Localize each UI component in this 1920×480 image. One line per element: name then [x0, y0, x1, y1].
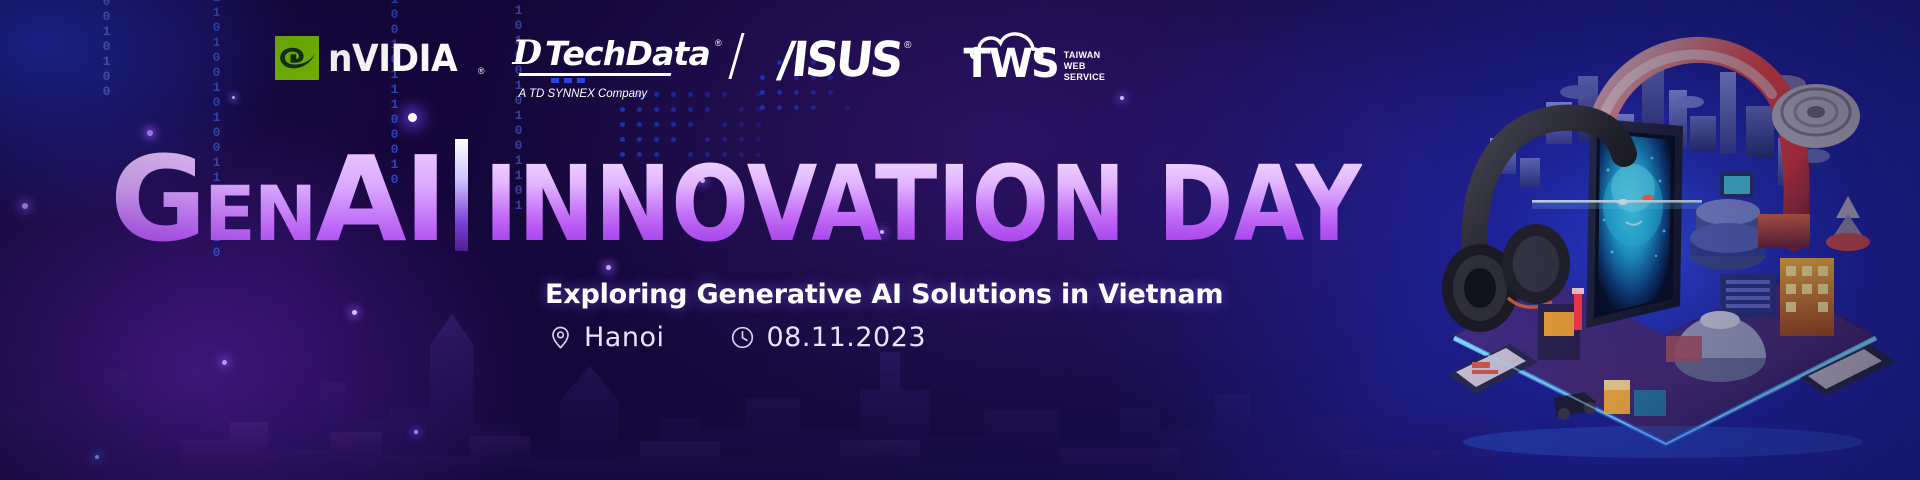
headline-gen-en: EN	[204, 169, 316, 258]
headline-block: GENAI INNOVATION DAY	[110, 140, 1481, 258]
meta-location: Hanoi	[548, 322, 664, 353]
grid-dot	[671, 122, 676, 127]
nvidia-wordmark: nVIDIA	[328, 40, 457, 77]
grid-dot	[722, 122, 727, 127]
logo-tws[interactable]: TWS TAIWAN WEB SERVICE	[964, 36, 1106, 84]
grid-dot	[705, 107, 710, 112]
spark	[22, 203, 28, 209]
subtitle: Exploring Generative AI Solutions in Vie…	[545, 279, 1223, 310]
tech-data-slash-accent	[728, 33, 744, 79]
headline-event-name: INNOVATION DAY	[484, 152, 1362, 256]
tws-sublabel: TAIWAN WEB SERVICE	[1064, 50, 1105, 83]
spark	[1120, 96, 1124, 100]
binary-column: 0010100	[100, 0, 112, 99]
tech-data-tagline: A TD SYNNEX Company	[519, 88, 648, 100]
event-meta-row: Hanoi 08.11.2023	[548, 322, 926, 353]
tech-data-dot-accents	[551, 78, 585, 83]
logo-asus[interactable]: /ISUS ®	[778, 36, 912, 82]
nvidia-eye-icon	[279, 43, 317, 73]
spark	[232, 96, 235, 99]
meta-date: 08.11.2023	[730, 322, 926, 353]
meta-location-label: Hanoi	[584, 322, 664, 353]
tech-data-main: D TechData ®	[513, 36, 722, 70]
grid-dot	[654, 122, 659, 127]
grid-dot	[654, 107, 659, 112]
tech-data-monogram: D	[513, 36, 540, 70]
tws-sub-line-1: TAIWAN	[1064, 50, 1105, 61]
clock-icon	[730, 325, 755, 350]
grid-dot	[620, 107, 625, 112]
grid-dot	[620, 122, 625, 127]
logo-tech-data[interactable]: D TechData ® A TD SYNNEX Company	[513, 36, 722, 100]
tws-cloud-icon	[970, 32, 1044, 60]
grid-dot	[756, 122, 761, 127]
spark	[408, 113, 417, 122]
tws-sub-line-3: SERVICE	[1064, 72, 1105, 83]
grid-dot	[688, 122, 693, 127]
headline-divider-bar	[455, 139, 468, 251]
artwork-svg	[1428, 6, 1898, 476]
tech-data-wordmark: TechData	[545, 37, 710, 70]
tech-data-underline	[518, 73, 671, 76]
meta-date-label: 08.11.2023	[766, 322, 926, 353]
nvidia-registered-mark: ®	[478, 66, 485, 76]
spark	[606, 265, 611, 270]
tech-data-registered-mark: ®	[715, 38, 722, 48]
headline-gen-g: G	[110, 130, 204, 268]
nvidia-eye-mark-icon	[275, 36, 319, 80]
tws-sub-line-2: WEB	[1064, 61, 1105, 72]
city-skyline-silhouette	[0, 290, 1500, 480]
asus-registered-mark: ®	[904, 40, 911, 51]
partner-logo-row: nVIDIA ® D TechData ® A TD SYNNEX Compan…	[275, 36, 1105, 106]
headline-genai: GENAI	[110, 140, 445, 258]
location-pin-icon	[548, 325, 573, 350]
headline-ai: AI	[315, 130, 444, 268]
swirl-disc	[1772, 84, 1860, 148]
grid-dot	[637, 107, 642, 112]
grid-dot	[671, 107, 676, 112]
genai-innovation-day-banner: 0010100 110100101001110010 1001011100010…	[0, 0, 1920, 480]
grid-dot	[688, 107, 693, 112]
grid-dot	[739, 107, 744, 112]
ai-isometric-city-illustration	[1428, 6, 1898, 476]
grid-dot	[739, 122, 744, 127]
logo-nvidia[interactable]: nVIDIA ®	[275, 36, 485, 80]
asus-wordmark: /ISUS	[775, 35, 903, 83]
grid-dot	[637, 122, 642, 127]
